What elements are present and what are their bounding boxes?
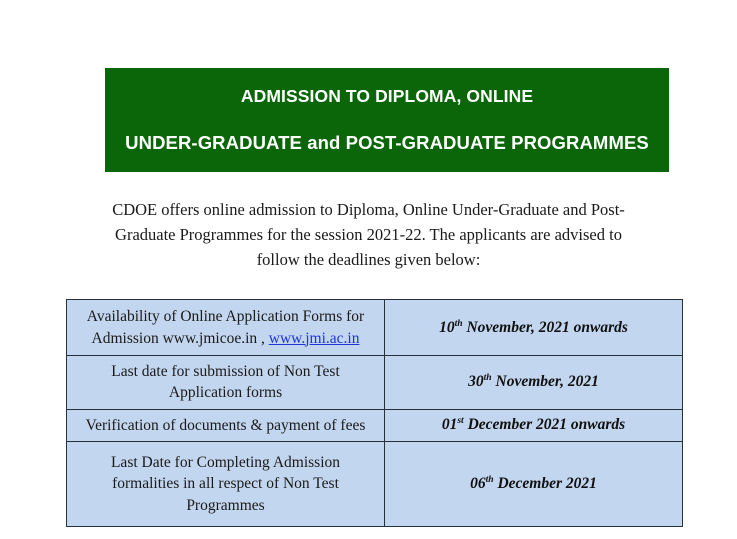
table-cell-date: 30th November, 2021: [385, 356, 683, 410]
task-text-line-3: Programmes: [73, 495, 378, 516]
intro-paragraph: CDOE offers online admission to Diploma,…: [96, 198, 641, 272]
table-cell-task: Verification of documents & payment of f…: [67, 409, 385, 441]
task-text-line-1: Last date for submission of Non Test: [73, 361, 378, 382]
task-text-line-2: formalities in all respect of Non Test: [73, 473, 378, 494]
task-text-prefix: Admission www.jmicoe.in ,: [92, 330, 265, 347]
date-number: 30: [468, 373, 484, 390]
date-ordinal-suffix: th: [455, 317, 463, 328]
table-cell-date: 01st December 2021 onwards: [385, 409, 683, 441]
date-ordinal-suffix: th: [484, 372, 492, 383]
banner-title-line-2: UNDER-GRADUATE and POST-GRADUATE PROGRAM…: [125, 134, 649, 153]
table-row: Last date for submission of Non Test App…: [67, 356, 683, 410]
date-number: 10: [439, 319, 455, 336]
task-text-line-1: Availability of Online Application Forms…: [73, 306, 378, 327]
date-rest: November, 2021 onwards: [463, 319, 628, 336]
table-row: Verification of documents & payment of f…: [67, 409, 683, 441]
table-row: Last Date for Completing Admission forma…: [67, 442, 683, 527]
announcement-banner: ADMISSION TO DIPLOMA, ONLINE UNDER-GRADU…: [105, 68, 669, 172]
date-rest: December 2021 onwards: [464, 416, 625, 433]
table-cell-date: 10th November, 2021 onwards: [385, 300, 683, 356]
table-cell-task: Last Date for Completing Admission forma…: [67, 442, 385, 527]
admission-deadlines-table: Availability of Online Application Forms…: [66, 299, 683, 527]
date-ordinal-suffix: th: [486, 474, 494, 485]
table-row: Availability of Online Application Forms…: [67, 300, 683, 356]
task-text-line-2: Application forms: [73, 382, 378, 403]
jmi-website-link[interactable]: www.jmi.ac.in: [269, 330, 360, 347]
task-text-line-1: Verification of documents & payment of f…: [73, 415, 378, 436]
task-text-line-1: Last Date for Completing Admission: [73, 452, 378, 473]
date-number: 01: [442, 416, 458, 433]
banner-title-line-1: ADMISSION TO DIPLOMA, ONLINE: [241, 88, 533, 106]
date-rest: December 2021: [494, 475, 597, 492]
task-text-line-2: Admission www.jmicoe.in , www.jmi.ac.in: [73, 328, 378, 349]
date-rest: November, 2021: [492, 373, 599, 390]
table-cell-task: Availability of Online Application Forms…: [67, 300, 385, 356]
date-number: 06: [470, 475, 486, 492]
table-cell-task: Last date for submission of Non Test App…: [67, 356, 385, 410]
table-cell-date: 06th December 2021: [385, 442, 683, 527]
